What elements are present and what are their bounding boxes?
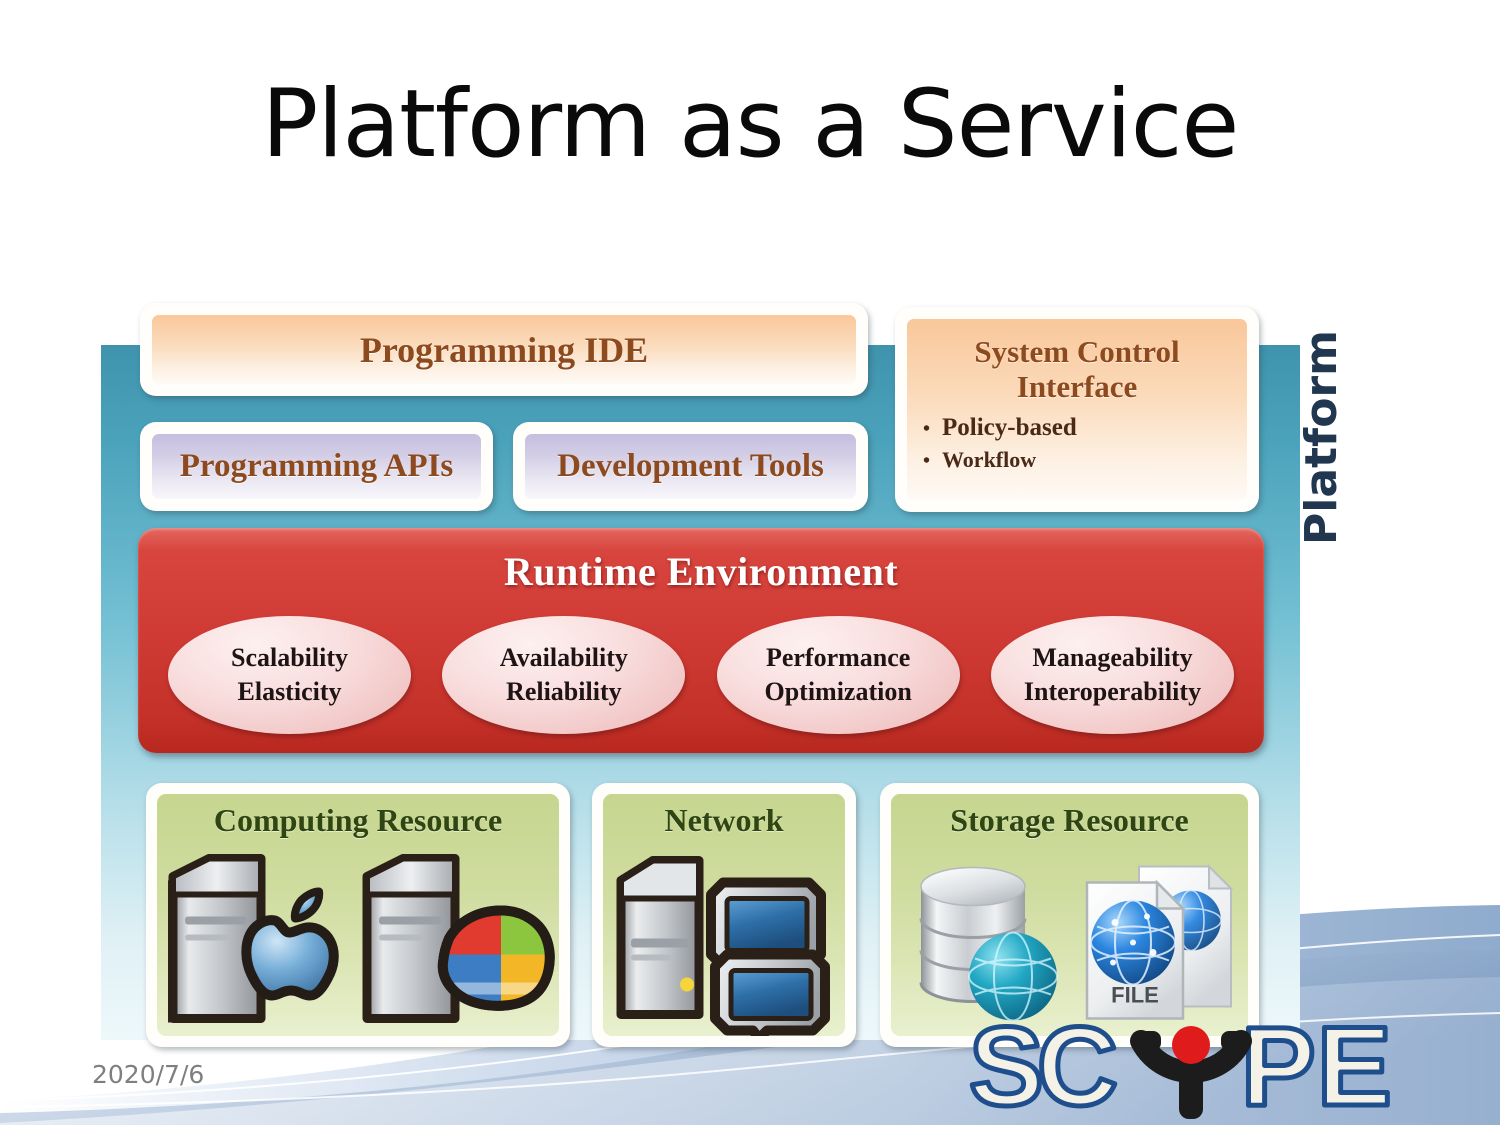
runtime-environment-bar[interactable]: Runtime Environment Scalability Elastici… — [138, 528, 1264, 753]
programming-ide-label: Programming IDE — [360, 329, 648, 371]
network-resource-title: Network — [664, 802, 783, 839]
scope-target-o-icon — [1131, 1026, 1251, 1119]
sci-bullet-policy-based: Policy-based — [942, 414, 1077, 442]
capability-line-2: Interoperability — [1024, 675, 1201, 709]
globe-icon — [1091, 901, 1175, 985]
runtime-environment-title: Runtime Environment — [138, 548, 1264, 595]
monitor-icon — [715, 955, 825, 1037]
system-control-interface-title: System Control Interface — [907, 335, 1247, 404]
scope-letter-p: P — [1241, 1005, 1316, 1125]
computing-resource-card[interactable]: Computing Resource — [146, 783, 570, 1047]
computing-resource-artwork — [157, 839, 559, 1036]
system-control-interface-fill: System Control Interface • Policy-based … — [907, 319, 1247, 500]
programming-ide-fill: Programming IDE — [152, 315, 856, 384]
sci-title-line-1: System Control — [907, 335, 1247, 370]
list-item: • Workflow — [907, 447, 1247, 473]
bullet-icon: • — [923, 419, 930, 439]
bullet-icon: • — [923, 451, 930, 471]
computing-resource-title: Computing Resource — [214, 802, 502, 839]
development-tools-fill: Development Tools — [525, 434, 856, 499]
runtime-capability-row: Scalability Elasticity Availability Reli… — [168, 616, 1234, 734]
development-tools-card[interactable]: Development Tools — [513, 422, 868, 511]
programming-apis-card[interactable]: Programming APIs — [140, 422, 493, 511]
scope-logo: S C P E — [965, 1005, 1435, 1125]
capability-line-1: Manageability — [1032, 641, 1192, 675]
slide-date: 2020/7/6 — [92, 1060, 204, 1089]
computing-resource-fill: Computing Resource — [157, 794, 559, 1036]
platform-side-label-text: Platform — [1296, 305, 1347, 545]
list-item: • Policy-based — [907, 414, 1247, 442]
platform-side-label: Platform — [1296, 305, 1356, 545]
scope-letter-e: E — [1317, 1005, 1392, 1125]
sci-title-line-2: Interface — [907, 370, 1247, 405]
scope-letter-s: S — [969, 1005, 1044, 1125]
system-control-bullet-list: • Policy-based • Workflow — [907, 414, 1247, 478]
tower-pc-icon — [367, 859, 455, 1019]
network-resource-card[interactable]: Network — [592, 783, 856, 1047]
development-tools-label: Development Tools — [557, 448, 824, 485]
capability-performance-optimization[interactable]: Performance Optimization — [717, 616, 960, 734]
file-label: FILE — [1111, 983, 1159, 1008]
page-title: Platform as a Service — [0, 78, 1500, 172]
network-resource-artwork — [603, 839, 845, 1036]
server-tower-icon — [621, 861, 699, 1015]
capability-line-2: Reliability — [506, 675, 622, 709]
storage-resource-fill: Storage Resource — [891, 794, 1248, 1036]
system-control-interface-card[interactable]: System Control Interface • Policy-based … — [895, 307, 1259, 512]
capability-line-2: Optimization — [764, 675, 911, 709]
capability-manageability-interoperability[interactable]: Manageability Interoperability — [991, 616, 1234, 734]
programming-apis-label: Programming APIs — [180, 448, 453, 485]
capability-line-1: Scalability — [231, 641, 348, 675]
capability-line-2: Elasticity — [238, 675, 342, 709]
capability-line-1: Availability — [500, 641, 628, 675]
capability-availability-reliability[interactable]: Availability Reliability — [442, 616, 685, 734]
capability-line-1: Performance — [766, 641, 910, 675]
storage-resource-title: Storage Resource — [950, 802, 1188, 839]
scope-letter-c: C — [1037, 1005, 1118, 1125]
programming-ide-card[interactable]: Programming IDE — [140, 303, 868, 396]
network-resource-fill: Network — [603, 794, 845, 1036]
programming-apis-fill: Programming APIs — [152, 434, 481, 499]
capability-scalability-elasticity[interactable]: Scalability Elasticity — [168, 616, 411, 734]
sci-bullet-workflow: Workflow — [942, 447, 1036, 473]
